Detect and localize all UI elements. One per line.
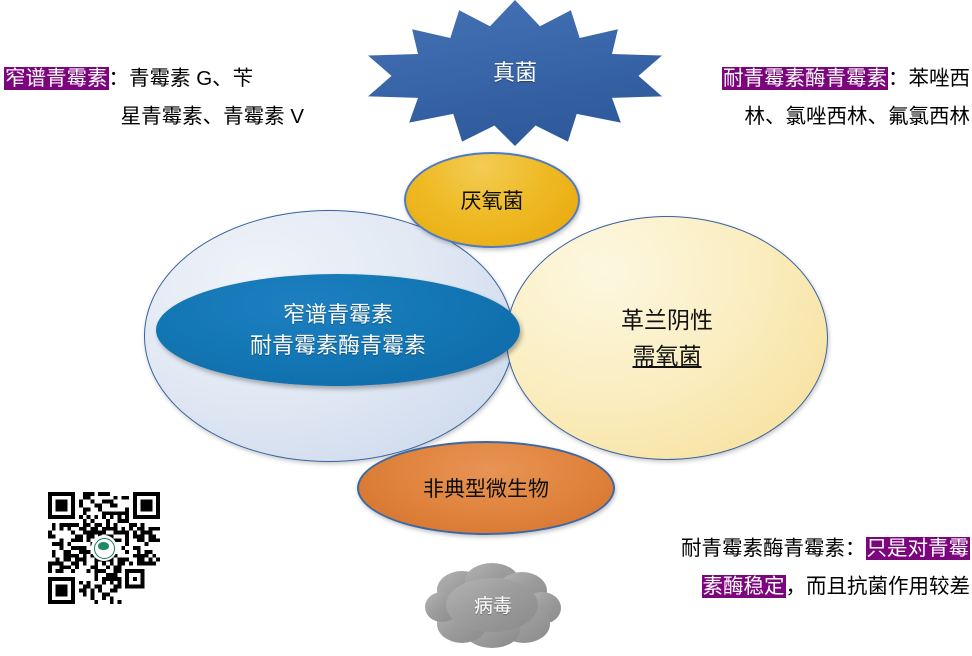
ellipse-penicillin-line2: 耐青霉素酶青霉素	[250, 333, 426, 358]
highlight-penicillinase-resistant-penicillin: 耐青霉素酶青霉素	[722, 67, 888, 90]
annotation-top-left-line2: 星青霉素、青霉素 V	[4, 98, 304, 136]
star-fungi-label: 真菌	[493, 55, 537, 87]
annotation-penicillinase-stability-note: 耐青霉素酶青霉素：只是对青霉素酶稳定，而且抗菌作用较差	[632, 530, 970, 606]
shape-ellipse-anaerobes: 厌氧菌	[404, 152, 580, 248]
shape-ellipse-atypical-organisms: 非典型微生物	[357, 441, 615, 535]
highlight-only-stable-to-penicillinase-part2: 素酶稳定	[702, 575, 786, 598]
annotation-penicillinase-resistant-penicillins: 耐青霉素酶青霉素：苯唑西林、氯唑西林、氟氯西林	[648, 60, 970, 136]
shape-cloud-virus: 病毒	[424, 560, 562, 650]
ellipse-gram-negative-line1: 革兰阴性	[621, 307, 713, 333]
qr-code[interactable]	[48, 492, 160, 604]
annotation-narrow-spectrum-penicillins: 窄谱青霉素：青霉素 G、苄星青霉素、青霉素 V	[4, 60, 304, 136]
slide-canvas: 窄谱青霉素：青霉素 G、苄星青霉素、青霉素 V 耐青霉素酶青霉素：苯唑西林、氯唑…	[0, 0, 972, 656]
annotation-top-right-line1-rest: ：苯唑西	[888, 67, 970, 90]
highlight-narrow-spectrum-penicillin: 窄谱青霉素	[4, 67, 109, 90]
annotation-bottom-right-line2: 素酶稳定，而且抗菌作用较差	[632, 568, 970, 606]
cloud-virus-label: 病毒	[474, 591, 512, 618]
round-green-emblem-icon	[94, 538, 115, 559]
highlight-only-stable-to-penicillinase-part1: 只是对青霉	[866, 537, 971, 560]
ellipse-penicillin-line1: 窄谱青霉素	[283, 302, 393, 327]
annotation-top-right-line2: 林、氯唑西林、氟氯西林	[648, 98, 970, 136]
ellipse-anaerobes-label: 厌氧菌	[461, 185, 524, 215]
shape-star-fungi: 真菌	[368, 0, 662, 146]
qr-code-center-logo	[91, 535, 117, 561]
ellipse-penicillin-classes-label: 窄谱青霉素耐青霉素酶青霉素	[250, 299, 426, 361]
ellipse-atypical-label: 非典型微生物	[423, 473, 549, 503]
annotation-bottom-right-prefix: 耐青霉素酶青霉素：	[681, 537, 866, 560]
annotation-top-left-line1-rest: ：青霉素 G、苄	[109, 67, 254, 90]
shape-ellipse-gram-negative-aerobes: 革兰阴性需氧菌	[506, 216, 828, 460]
ellipse-gram-negative-label: 革兰阴性需氧菌	[621, 302, 713, 374]
shape-ellipse-penicillin-classes: 窄谱青霉素耐青霉素酶青霉素	[156, 274, 520, 386]
annotation-bottom-right-suffix: ，而且抗菌作用较差	[786, 575, 971, 598]
ellipse-gram-negative-line2: 需氧菌	[633, 343, 702, 369]
